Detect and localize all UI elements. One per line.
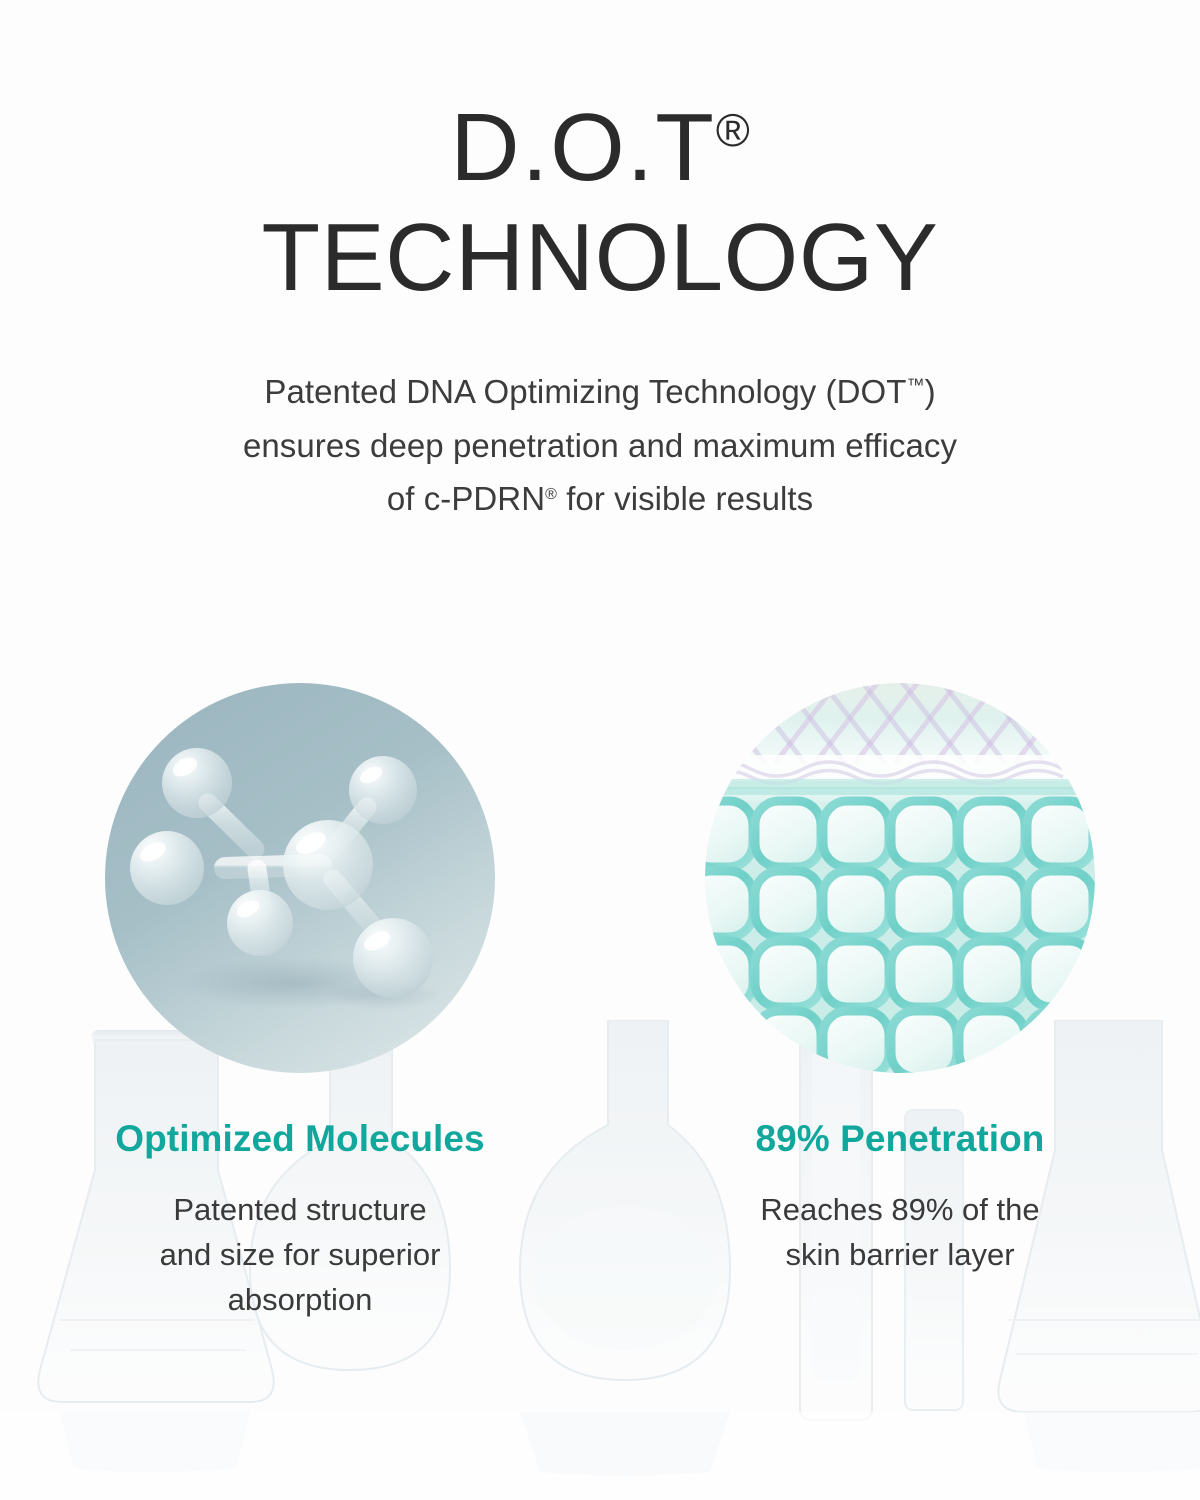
page-title-line-1: D.O.T® <box>0 96 1200 200</box>
dot-technology-infographic: D.O.T® TECHNOLOGY Patented DNA Optimizin… <box>0 0 1200 1500</box>
feature-body-line: absorption <box>160 1278 441 1323</box>
feature-body-line: Reaches 89% of the <box>760 1188 1039 1233</box>
registered-trademark-icon: ® <box>716 104 750 156</box>
feature-penetration: 89% Penetration Reaches 89% of the skin … <box>600 683 1200 1323</box>
feature-heading-optimized-molecules: Optimized Molecules <box>115 1119 484 1160</box>
subtitle-line-1: Patented DNA Optimizing Technology (DOT™… <box>0 365 1200 418</box>
feature-heading-penetration: 89% Penetration <box>756 1119 1045 1160</box>
trademark-icon: ™ <box>906 375 924 395</box>
feature-body-line: Patented structure <box>160 1188 441 1233</box>
registered-trademark-small-icon: ® <box>545 486 557 503</box>
subtitle: Patented DNA Optimizing Technology (DOT™… <box>0 365 1200 525</box>
page-title-line-2: TECHNOLOGY <box>0 206 1200 310</box>
subtitle-line-1-post: ) <box>925 373 936 410</box>
subtitle-line-3-post: for visible results <box>557 480 813 517</box>
page-title-text: D.O.T <box>450 94 716 201</box>
subtitle-line-3: of c-PDRN® for visible results <box>0 472 1200 525</box>
feature-body-line: and size for superior <box>160 1233 441 1278</box>
subtitle-line-3-pre: of c-PDRN <box>387 480 545 517</box>
page-title: D.O.T® TECHNOLOGY <box>0 0 1200 309</box>
feature-optimized-molecules: Optimized Molecules Patented structure a… <box>0 683 600 1323</box>
header: D.O.T® TECHNOLOGY Patented DNA Optimizin… <box>0 0 1200 526</box>
feature-body-optimized-molecules: Patented structure and size for superior… <box>160 1188 441 1323</box>
molecule-illustration <box>105 683 495 1073</box>
skin-barrier-lattice-illustration <box>705 683 1095 1073</box>
subtitle-line-2: ensures deep penetration and maximum eff… <box>0 419 1200 472</box>
feature-columns: Optimized Molecules Patented structure a… <box>0 683 1200 1323</box>
feature-body-penetration: Reaches 89% of the skin barrier layer <box>760 1188 1039 1278</box>
subtitle-line-1-pre: Patented DNA Optimizing Technology (DOT <box>264 373 906 410</box>
feature-body-line: skin barrier layer <box>760 1233 1039 1278</box>
